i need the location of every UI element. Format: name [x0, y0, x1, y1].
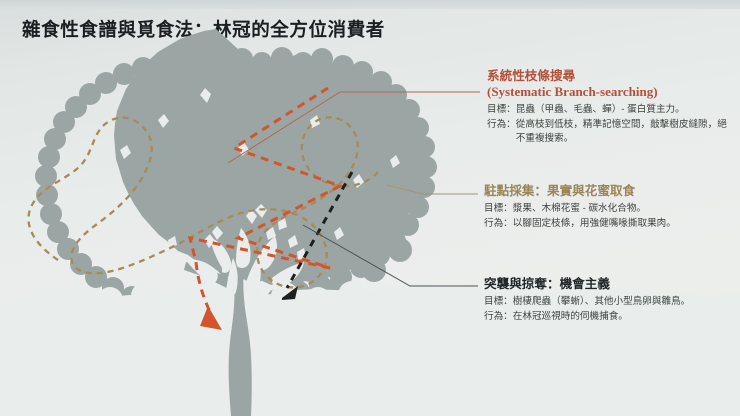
- annotation-2-target-label: 目標：: [484, 202, 513, 216]
- annotation-2-target-text: 漿果、木棉花蜜 - 碳水化合物。: [513, 202, 734, 216]
- annotation-3-behavior-text: 在林冠巡視時的伺機捕食。: [513, 310, 734, 324]
- annotation-3-row-behavior: 行為： 在林冠巡視時的伺機捕食。: [484, 310, 734, 324]
- annotation-1-behavior-label: 行為：: [487, 118, 516, 132]
- annotation-1-subheading: (Systematic Branch-searching): [487, 84, 732, 100]
- annotation-2-body: 目標： 漿果、木棉花蜜 - 碳水化合物。 行為： 以腳固定枝條，用強健嘴喙撕取果…: [484, 202, 734, 231]
- annotation-1-target-label: 目標：: [487, 103, 516, 117]
- annotation-systematic-branch-searching: 系統性枝條搜尋 (Systematic Branch-searching) 目標…: [487, 68, 732, 147]
- annotation-2-behavior-text: 以腳固定枝條，用強健嘴喙撕取果肉。: [513, 217, 734, 231]
- annotation-3-heading: 突襲與掠奪：機會主義: [484, 276, 734, 292]
- annotation-1-body: 目標： 昆蟲（甲蟲、毛蟲、蟬）- 蛋白質主力。 行為： 從高枝到低枝，精準記憶空…: [487, 103, 732, 146]
- annotation-2-row-target: 目標： 漿果、木棉花蜜 - 碳水化合物。: [484, 202, 734, 216]
- annotation-2-row-behavior: 行為： 以腳固定枝條，用強健嘴喙撕取果肉。: [484, 217, 734, 231]
- infographic-canvas: 雜食性食譜與覓食法：林冠的全方位消費者: [0, 0, 740, 416]
- annotation-3-body: 目標： 樹棲爬蟲（攀蜥）、其他小型鳥卵與雛鳥。 行為： 在林冠巡視時的伺機捕食。: [484, 295, 734, 324]
- annotation-1-target-text: 昆蟲（甲蟲、毛蟲、蟬）- 蛋白質主力。: [516, 103, 732, 117]
- annotation-1-row-behavior: 行為： 從高枝到低枝，精準記憶空間，敲擊樹皮縫隙，絕不重複搜索。: [487, 118, 732, 147]
- annotation-3-target-label: 目標：: [484, 295, 513, 309]
- annotation-station-fruit-nectar: 駐點採集：果實與花蜜取食 目標： 漿果、木棉花蜜 - 碳水化合物。 行為： 以腳…: [484, 183, 734, 231]
- annotation-2-behavior-label: 行為：: [484, 217, 513, 231]
- annotation-1-behavior-text: 從高枝到低枝，精準記憶空間，敲擊樹皮縫隙，絕不重複搜索。: [516, 118, 732, 147]
- annotation-2-heading: 駐點採集：果實與花蜜取食: [484, 183, 734, 199]
- annotation-1-row-target: 目標： 昆蟲（甲蟲、毛蟲、蟬）- 蛋白質主力。: [487, 103, 732, 117]
- annotation-1-heading: 系統性枝條搜尋: [487, 68, 732, 84]
- annotation-3-behavior-label: 行為：: [484, 310, 513, 324]
- annotation-3-target-text: 樹棲爬蟲（攀蜥）、其他小型鳥卵與雛鳥。: [513, 295, 734, 309]
- annotation-3-row-target: 目標： 樹棲爬蟲（攀蜥）、其他小型鳥卵與雛鳥。: [484, 295, 734, 309]
- annotation-raid-and-plunder: 突襲與掠奪：機會主義 目標： 樹棲爬蟲（攀蜥）、其他小型鳥卵與雛鳥。 行為： 在…: [484, 276, 734, 324]
